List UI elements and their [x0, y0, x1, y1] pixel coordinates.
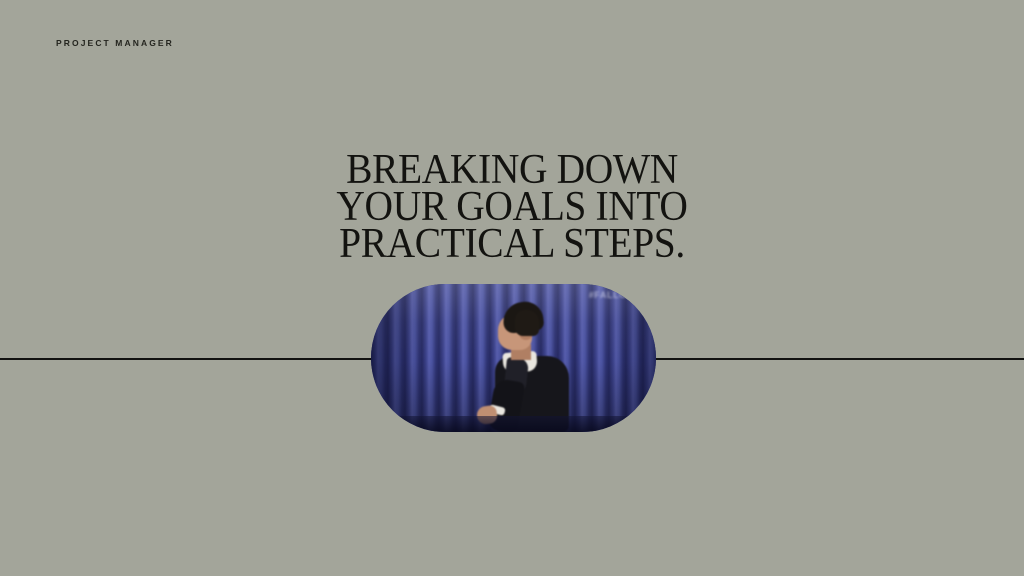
page-title: BREAKING DOWN YOUR GOALS INTO PRACTICAL … [31, 152, 994, 263]
eyebrow-label: PROJECT MANAGER [56, 38, 174, 48]
stage-floor [371, 416, 656, 432]
person-figure [475, 302, 579, 432]
media-pill-image: #FALLONT [371, 284, 656, 432]
broadcast-watermark: #FALLONT [589, 290, 640, 300]
curtain-shadow-right [610, 284, 656, 432]
headline-line-3: PRACTICAL STEPS. [31, 226, 994, 263]
sideburn [515, 310, 539, 336]
curtain-shadow-left [371, 284, 423, 432]
slide-canvas: PROJECT MANAGER BREAKING DOWN YOUR GOALS… [0, 0, 1024, 576]
